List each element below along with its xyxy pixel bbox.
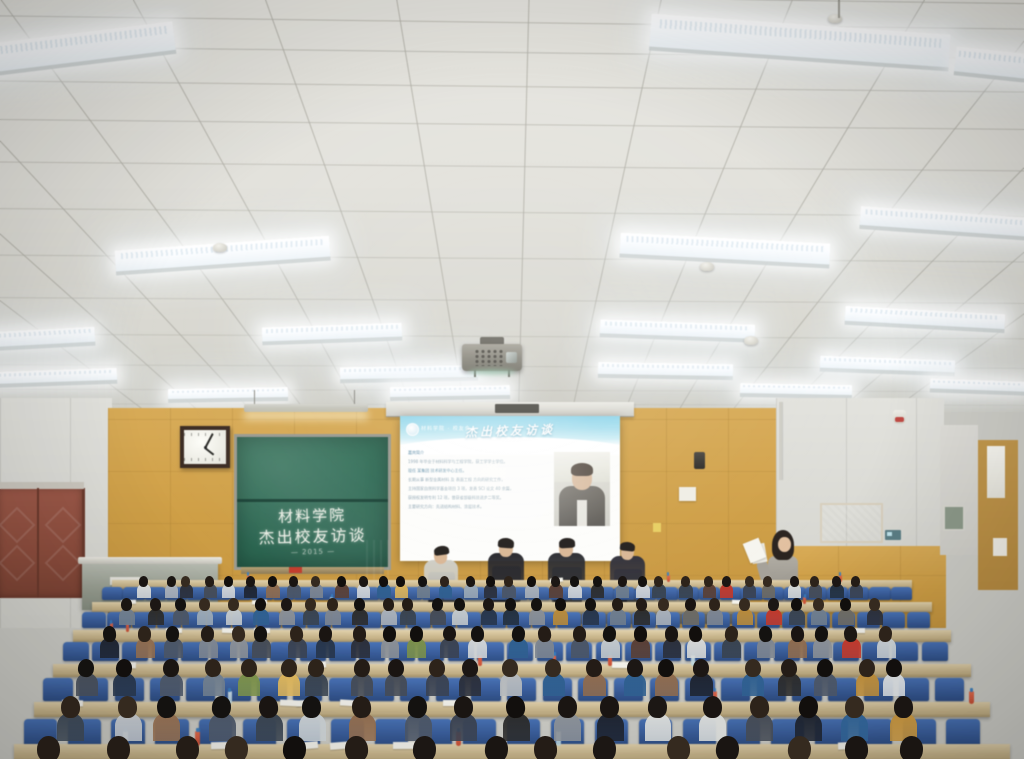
ceiling-light-fixture: [598, 362, 733, 377]
audience-member: [319, 626, 332, 657]
audience-head: [166, 625, 180, 641]
projector-vent-grille: [474, 349, 504, 366]
audience-member: [157, 696, 176, 740]
audience-member: [759, 626, 772, 657]
audience-head: [545, 658, 561, 677]
doorway-notice-sign: [993, 538, 1007, 556]
audience-member: [505, 598, 516, 624]
audience-member: [454, 598, 465, 624]
audience-member: [418, 576, 427, 598]
audience-head: [633, 626, 647, 642]
audience-member: [462, 659, 478, 696]
audience-shoulders: [430, 609, 446, 625]
audience-head: [201, 625, 215, 641]
audience-head: [654, 575, 664, 587]
bottle-cap: [970, 688, 973, 692]
audience-member: [429, 659, 445, 696]
panelist-hair: [498, 537, 515, 548]
audience-member: [551, 576, 560, 598]
audience-shoulders: [634, 609, 650, 625]
audience-member: [383, 626, 396, 657]
audience-area: [0, 560, 1024, 759]
audience-head: [592, 575, 602, 587]
audience-member: [410, 626, 423, 657]
audience-member: [268, 576, 277, 598]
audience-head: [281, 598, 292, 611]
auditorium-seat[interactable]: [102, 587, 123, 600]
audience-member: [745, 659, 761, 696]
audience-member: [709, 598, 720, 624]
ceiling-light-fixture: [390, 385, 510, 398]
water-bottle: [969, 691, 973, 704]
audience-head: [780, 658, 797, 677]
audience-head: [724, 625, 739, 642]
ceiling-grid-line: [0, 161, 1024, 172]
audience-member: [205, 659, 221, 696]
audience-shoulders: [119, 609, 135, 625]
screen-housing: [386, 402, 634, 417]
audience-member: [353, 626, 366, 657]
audience-member: [175, 598, 186, 624]
audience-head: [311, 576, 320, 587]
panelist-hair: [433, 545, 449, 556]
audience-head: [844, 696, 863, 718]
audience-head: [749, 695, 770, 719]
ceiling-grid-line: [511, 0, 666, 412]
audience-member: [224, 576, 233, 598]
audience-head: [745, 658, 761, 677]
audience-head: [554, 598, 566, 612]
audience-member: [900, 736, 923, 759]
audience-member: [879, 626, 892, 657]
audience-head: [551, 575, 561, 587]
audience-shoulders: [766, 609, 782, 625]
audience-head: [531, 598, 542, 611]
auditorium-seat[interactable]: [946, 719, 979, 746]
screen-roller-bracket: [495, 404, 539, 413]
audience-member: [618, 576, 627, 598]
audience-member: [354, 598, 365, 624]
audience-member: [658, 659, 674, 696]
yellow-wall-tag: [653, 523, 661, 532]
audience-member: [689, 626, 702, 657]
bottle-cap: [714, 688, 717, 692]
audience-head: [163, 659, 179, 678]
audience-member: [440, 576, 449, 598]
audience-member: [799, 696, 818, 740]
audience-member: [654, 576, 663, 598]
audience-member: [832, 576, 841, 598]
lecture-hall-photo: 材料学院 杰出校友访谈 — 2015 — 材料学院 · 校友会 杰出校友访谈 嘉…: [0, 0, 1024, 759]
audience-shoulders: [226, 609, 242, 625]
audience-member: [118, 696, 137, 740]
audience-member: [815, 626, 828, 657]
audience-head: [290, 625, 305, 642]
bottle-cap: [667, 572, 669, 576]
audience-member: [138, 626, 151, 657]
water-bottle: [667, 575, 670, 582]
audience-member: [139, 576, 148, 598]
audience-member: [570, 576, 579, 598]
audience-shoulders: [737, 609, 753, 625]
audience-member: [506, 696, 525, 740]
audience-member: [212, 696, 231, 740]
audience-member: [383, 598, 394, 624]
audience-member: [281, 598, 292, 624]
audience-head: [600, 696, 619, 718]
audience-head: [318, 625, 332, 641]
audience-shoulders: [197, 609, 213, 625]
auditorium-seat[interactable]: [907, 612, 931, 628]
audience-head: [224, 575, 234, 586]
audience-member: [121, 598, 132, 624]
ceiling-grid-line: [0, 0, 1024, 5]
ceiling-light-fixture: [0, 327, 95, 350]
audience-head: [681, 575, 691, 586]
door-panel-diamond: [0, 507, 35, 544]
audience-member: [352, 696, 371, 740]
audience-head: [224, 735, 249, 759]
audience-member: [627, 659, 643, 696]
audience-member: [593, 736, 616, 759]
audience-member: [116, 659, 132, 696]
audience-member: [308, 659, 324, 696]
audience-head: [409, 625, 423, 641]
audience-shoulders: [683, 609, 699, 625]
audience-member: [585, 598, 596, 624]
bottle-cap: [228, 688, 231, 692]
moderator-face: [778, 537, 791, 552]
audience-head: [537, 625, 552, 642]
audience-member: [345, 736, 368, 759]
audience-shoulders: [610, 609, 626, 625]
audience-head: [156, 695, 177, 719]
audience-member: [681, 576, 690, 598]
far-right-wall: [940, 425, 978, 555]
audience-head: [302, 696, 321, 718]
audience-head: [894, 696, 913, 718]
audience-head: [484, 735, 509, 759]
audience-head: [557, 695, 577, 718]
audience-head: [461, 658, 478, 678]
audience-member: [844, 626, 857, 657]
audience-member: [205, 576, 214, 598]
audience-member: [894, 696, 913, 740]
audience-head: [844, 736, 868, 759]
paper-handout: [280, 699, 301, 706]
audience-member: [886, 659, 902, 696]
audience-shoulders: [583, 609, 599, 625]
ceiling-light-fixture: [930, 378, 1024, 392]
audience-head: [573, 626, 586, 642]
audience-shoulders: [381, 609, 397, 625]
audience-member: [603, 626, 616, 657]
audience-member: [725, 626, 738, 657]
audience-member: [612, 598, 623, 624]
audience-head: [527, 575, 537, 586]
audience-head: [353, 626, 367, 642]
audience-head: [378, 575, 388, 587]
audience-head: [665, 626, 679, 642]
audience-member: [201, 626, 214, 657]
projector-body: [462, 344, 522, 371]
ceiling-grid-line: [0, 389, 1024, 393]
audience-member: [166, 626, 179, 657]
audience-shoulders: [789, 609, 805, 625]
bottle-cap: [331, 594, 333, 598]
audience-head: [584, 598, 596, 612]
audience-head: [454, 696, 473, 718]
audience-member: [665, 626, 678, 657]
audience-member: [337, 576, 346, 598]
water-bottle: [803, 597, 806, 604]
clock-center-hub: [204, 446, 207, 449]
audience-head: [721, 575, 731, 586]
audience-head: [138, 626, 151, 642]
audience-head: [715, 735, 740, 759]
audience-member: [107, 736, 130, 759]
audience-member: [289, 576, 298, 598]
panelist-hair: [558, 538, 575, 549]
audience-shoulders: [452, 609, 468, 625]
audience-member: [483, 598, 494, 624]
audience-member: [259, 696, 278, 740]
lamp-wire: [254, 390, 255, 404]
auditorium-seat[interactable]: [935, 678, 964, 701]
audience-head: [308, 658, 324, 677]
audience-head: [60, 696, 80, 719]
audience-head: [440, 575, 450, 586]
audience-member: [485, 736, 508, 759]
audience-member: [402, 598, 413, 624]
audience-head: [245, 575, 255, 586]
ceiling-light-fixture: [0, 368, 117, 386]
audience-head: [816, 658, 833, 678]
door-panel-diamond: [45, 507, 82, 544]
audience-member: [241, 659, 257, 696]
audience-member: [199, 598, 210, 624]
audience-head: [533, 736, 557, 759]
audience-head: [626, 658, 643, 677]
audience-member: [283, 736, 306, 759]
audience-shoulders: [503, 609, 519, 625]
audience-head: [790, 625, 804, 641]
audience-member: [527, 576, 536, 598]
audience-shoulders: [279, 609, 295, 625]
audience-member: [745, 576, 754, 598]
bottle-cap: [196, 728, 199, 732]
audience-shoulders: [173, 609, 189, 625]
audience-member: [78, 659, 94, 696]
audience-head: [344, 736, 368, 759]
audience-shoulders: [253, 609, 269, 625]
audience-member: [471, 626, 484, 657]
audience-member: [305, 598, 316, 624]
audience-member: [845, 736, 868, 759]
audience-member: [685, 598, 696, 624]
audience-member: [750, 696, 769, 740]
audience-member: [176, 736, 199, 759]
audience-head: [383, 625, 397, 641]
panelist-hair: [620, 541, 636, 552]
audience-head: [704, 575, 714, 586]
audience-member: [636, 598, 647, 624]
audience-head: [570, 575, 580, 587]
audience-member: [648, 696, 667, 740]
audience-member: [531, 598, 542, 624]
audience-head: [102, 625, 116, 641]
audience-member: [327, 598, 338, 624]
audience-head: [412, 736, 436, 759]
audience-member: [545, 659, 561, 696]
audience-member: [290, 626, 303, 657]
auditorium-seat[interactable]: [922, 642, 948, 661]
audience-member: [791, 598, 802, 624]
audience-head: [666, 736, 690, 759]
audience-member: [573, 626, 586, 657]
audience-member: [413, 736, 436, 759]
audience-head: [658, 658, 674, 677]
audience-shoulders: [303, 609, 319, 625]
audience-member: [379, 576, 388, 598]
audience-member: [722, 576, 731, 598]
audience-member: [167, 576, 176, 598]
audience-member: [555, 598, 566, 624]
wall-picture-frame: [943, 505, 965, 531]
audience-member: [246, 576, 255, 598]
audience-member: [840, 598, 851, 624]
smoke-detector-icon: [213, 243, 227, 252]
control-box-led: [887, 532, 892, 536]
audience-member: [359, 576, 368, 598]
audience-shoulders: [352, 609, 368, 625]
door-frame-top: [0, 482, 84, 489]
audience-member: [408, 696, 427, 740]
audience-shoulders: [656, 609, 672, 625]
audience-member: [432, 598, 443, 624]
audience-member: [466, 576, 475, 598]
audience-member: [558, 696, 577, 740]
audience-member: [586, 659, 602, 696]
audience-head: [702, 696, 721, 718]
audience-head: [502, 658, 518, 677]
audience-member: [228, 598, 239, 624]
audience-head: [289, 576, 298, 587]
audience-member: [739, 598, 750, 624]
audience-head: [470, 626, 483, 642]
audience-member: [704, 576, 713, 598]
paper-notice: [679, 487, 696, 501]
auditorium-seat[interactable]: [891, 587, 912, 600]
audience-head: [658, 598, 669, 611]
smoke-detector-icon: [700, 262, 714, 271]
audience-head: [358, 575, 368, 587]
audience-member: [37, 736, 60, 759]
audience-member: [593, 576, 602, 598]
wooden-bulletin-panel: [820, 503, 883, 543]
audience-member: [869, 598, 880, 624]
audience-head: [337, 575, 347, 586]
audience-member: [763, 576, 772, 598]
audience-head: [327, 598, 338, 611]
audience-shoulders: [553, 609, 569, 625]
audience-member: [302, 696, 321, 740]
audience-member: [281, 659, 297, 696]
audience-member: [443, 626, 456, 657]
ceiling-hanger-rod: [838, 0, 840, 18]
ceiling: [0, 0, 1024, 412]
audience-member: [454, 696, 473, 740]
audience-member: [859, 659, 875, 696]
audience-head: [744, 575, 754, 587]
audience-head: [37, 736, 60, 759]
audience-member: [232, 626, 245, 657]
audience-member: [354, 659, 370, 696]
audience-head: [899, 736, 923, 759]
audience-member: [502, 659, 518, 696]
audience-member: [504, 576, 513, 598]
lamp-wire: [354, 390, 355, 404]
audience-member: [396, 576, 405, 598]
audience-member: [181, 576, 190, 598]
audience-head: [231, 625, 245, 641]
audience-head: [885, 658, 902, 677]
audience-head: [227, 598, 239, 611]
audience-head: [268, 575, 278, 587]
audience-head: [592, 736, 616, 759]
audience-head: [504, 575, 514, 586]
audience-member: [486, 576, 495, 598]
lamp-glow: [244, 411, 368, 420]
audience-member: [512, 626, 525, 657]
ceiling-grid-line: [0, 118, 1024, 130]
audience-head: [787, 735, 812, 759]
audience-member: [255, 598, 266, 624]
smoke-detector-icon: [744, 336, 758, 345]
audience-member: [638, 576, 647, 598]
audience-member: [388, 659, 404, 696]
audience-head: [767, 598, 779, 611]
audience-member: [667, 736, 690, 759]
audience-shoulders: [400, 609, 416, 625]
audience-head: [511, 625, 526, 642]
wall-control-box[interactable]: [885, 530, 901, 540]
audience-head: [465, 575, 476, 587]
audience-shoulders: [529, 609, 545, 625]
audience-head: [813, 598, 824, 611]
audience-head: [282, 736, 306, 759]
audience-head: [638, 575, 648, 587]
audience-member: [703, 696, 722, 740]
audience-member: [813, 598, 824, 624]
audience-head: [739, 598, 750, 611]
ceiling-grid-line: [0, 297, 1024, 304]
projector-lens-icon: [506, 352, 517, 363]
ceiling-grid-line: [511, 0, 801, 412]
ceiling-light-fixture: [340, 365, 478, 380]
audience-head: [647, 695, 667, 718]
audience-member: [634, 626, 647, 657]
audience-member: [781, 659, 797, 696]
audience-member: [538, 626, 551, 657]
audience-head: [789, 575, 799, 587]
chalkboard-divider-rail: [237, 499, 388, 502]
audience-head: [689, 625, 704, 642]
wall-speaker-icon: [694, 452, 705, 469]
audience-head: [443, 626, 456, 642]
bottle-cap: [804, 594, 806, 598]
audience-member: [845, 696, 864, 740]
